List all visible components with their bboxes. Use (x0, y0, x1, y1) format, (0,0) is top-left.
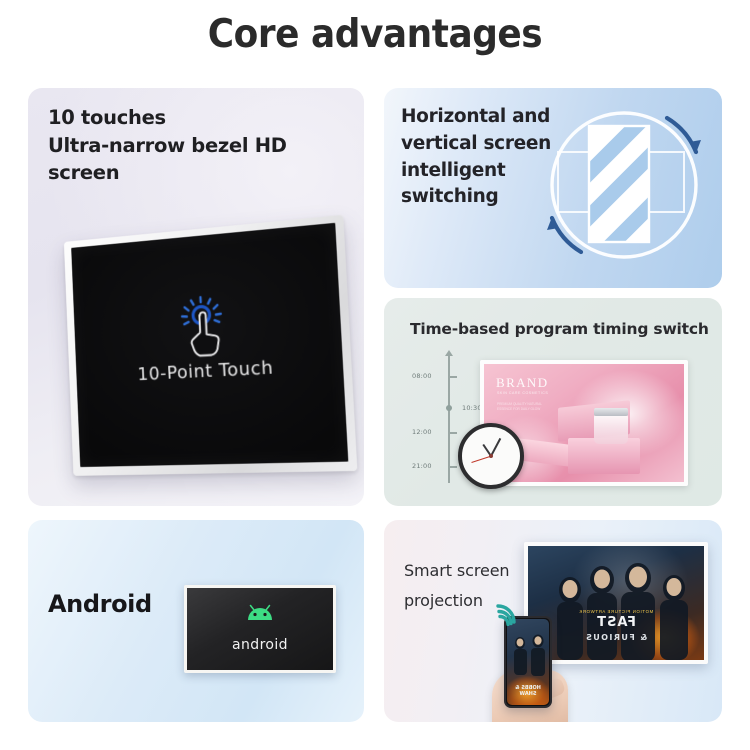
card-android-headline: Android (48, 590, 152, 618)
card-screen-rotation[interactable]: Horizontal and vertical screen intellige… (384, 88, 722, 288)
tv-characters (528, 546, 708, 664)
monitor-illustration: 10-Point Touch (58, 228, 348, 473)
poster-brand-sub: SKIN CARE COSMETICS (497, 391, 548, 395)
card-10-touch-headline: 10 touches Ultra-narrow bezel HD screen (48, 104, 364, 187)
phone-screen: HOBBS & SHAW (507, 619, 549, 705)
time-label-1: 08:00 (412, 372, 432, 380)
page-title: Core advantages (30, 12, 720, 57)
poster-cream-jar-lid (594, 408, 628, 416)
monitor-screen: 10-Point Touch (71, 223, 348, 467)
headline-line-2: Ultra-narrow bezel HD screen (48, 132, 364, 187)
tv-tagline: MOTION PICTURE ARTWORK (528, 609, 704, 614)
headline-line-1: 10 touches (48, 104, 364, 132)
phone-movie-title: HOBBS & SHAW (507, 685, 549, 697)
poster-brand-sub2: PREMIUM QUALITY NATURAL ESSENCE FOR DAIL… (497, 402, 543, 413)
clock-center-pin (489, 454, 493, 458)
android-wordmark: android (187, 637, 333, 653)
card-10-touch[interactable]: 10 touches Ultra-narrow bezel HD screen (28, 88, 364, 506)
touch-hand-icon (174, 293, 231, 362)
timeline-axis (448, 355, 450, 483)
card-android[interactable]: Android android (28, 520, 364, 722)
headline-line-1: Smart screen (404, 556, 534, 586)
timeline-tick-1 (448, 376, 457, 378)
analog-clock-icon (458, 423, 524, 489)
time-label-4: 21:00 (412, 462, 432, 470)
timeline-dot-2 (446, 405, 452, 411)
timeline-tick-3 (448, 432, 457, 434)
card-timer-headline: Time-based program timing switch (410, 320, 709, 338)
phone-screen-casting: HOBBS & SHAW (504, 616, 552, 708)
wifi-cast-icon (480, 592, 520, 626)
tv-title-bottom: & FURIOUS (528, 633, 704, 642)
card-program-timing[interactable]: Time-based program timing switch 08:00 1… (384, 298, 722, 506)
card-smart-projection[interactable]: Smart screen projection MOTION PICTURE A… (384, 520, 722, 722)
android-screen: android (184, 585, 336, 673)
monitor-bezel: 10-Point Touch (64, 215, 358, 476)
poster-brand: BRAND (496, 375, 549, 391)
android-robot-icon (245, 604, 275, 626)
rotate-screen-icon (536, 90, 716, 286)
touch-screen-label: 10-Point Touch (76, 353, 343, 388)
time-label-3: 12:00 (412, 428, 432, 436)
time-label-2: 10:30 (462, 404, 482, 412)
poster-cream-jar (594, 414, 628, 444)
tv-title-top: FAST (528, 615, 704, 630)
timeline-tick-4 (448, 466, 457, 468)
